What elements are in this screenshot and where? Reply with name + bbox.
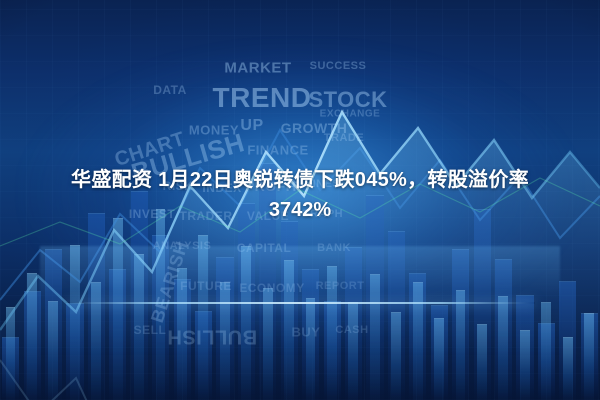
stock-banner-image: MARKETSUCCESSTRENDSTOCKDATACHARTBULLISHM… <box>0 0 600 400</box>
caption-block: 华盛配资 1月22日奥锐转债下跌045%，转股溢价率 3742% <box>0 140 600 250</box>
horizon-light-line <box>65 302 535 304</box>
wordcloud-word: TREND <box>213 82 312 114</box>
reflective-plate <box>40 246 560 356</box>
wordcloud-word: UP <box>240 117 263 135</box>
wordcloud-word: DATA <box>153 83 187 97</box>
wordcloud-word: SUCCESS <box>310 60 367 72</box>
wordcloud-word: MARKET <box>224 60 291 77</box>
wordcloud-word: EXCHANGE <box>320 109 381 120</box>
wordcloud-word: MONEY <box>189 123 239 138</box>
caption-line-2: 3742% <box>269 195 331 225</box>
caption-line-1: 华盛配资 1月22日奥锐转债下跌045%，转股溢价率 <box>71 165 529 195</box>
